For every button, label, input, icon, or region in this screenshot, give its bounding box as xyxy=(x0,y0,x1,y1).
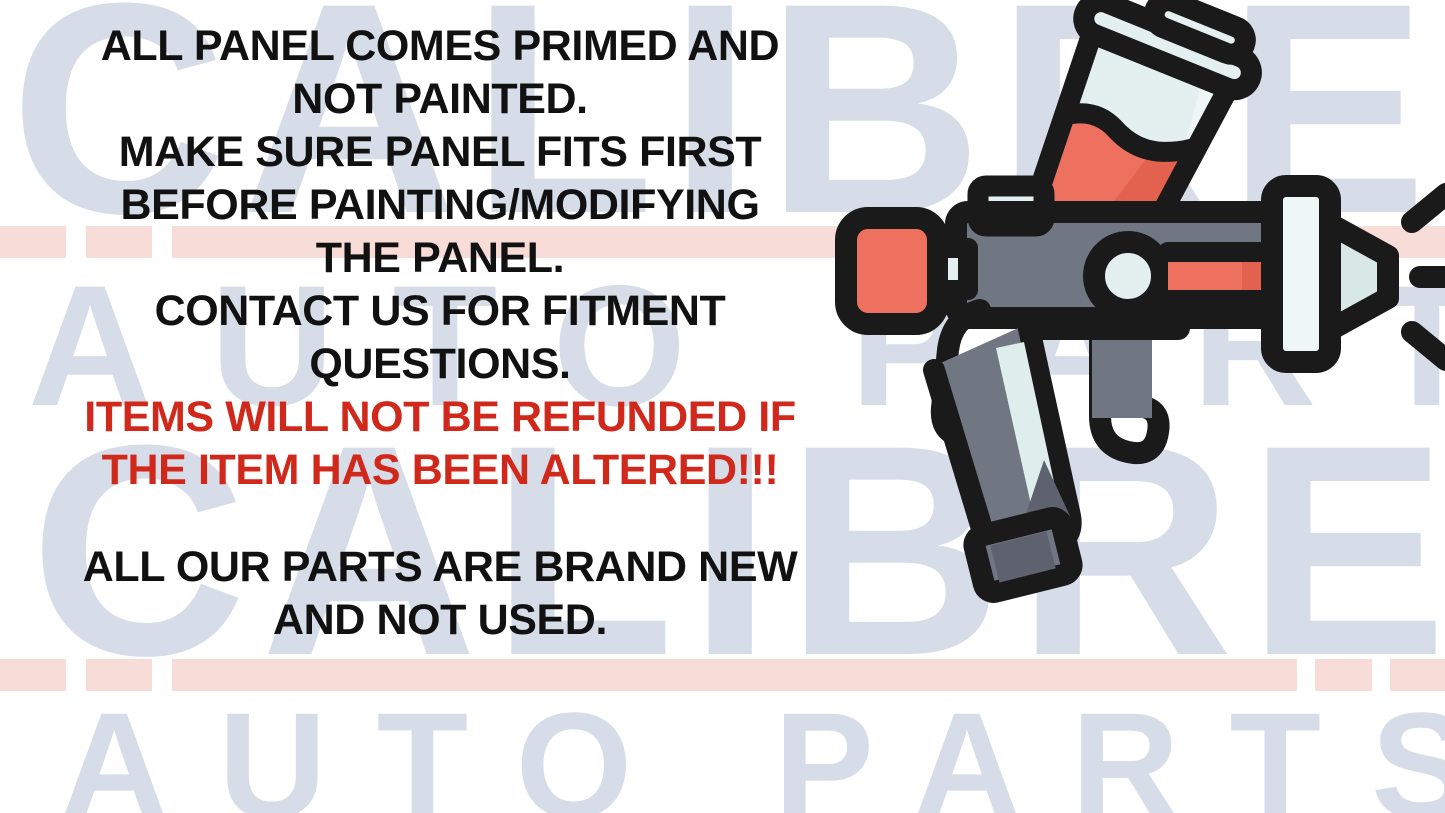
band-notch xyxy=(152,659,172,691)
band-notch xyxy=(1297,659,1315,691)
notice-line: BEFORE PAINTING/MODIFYING xyxy=(0,179,880,232)
watermark-autoparts-bottom: AUTO PARTS xyxy=(60,690,1445,813)
notice-line: THE PANEL. xyxy=(0,232,880,285)
notice-line: MAKE SURE PANEL FITS FIRST xyxy=(0,126,880,179)
band-notch xyxy=(1372,659,1390,691)
accent-band-bottom xyxy=(0,659,1445,691)
notice-line-warning: ITEMS WILL NOT BE REFUNDED IF xyxy=(0,391,880,444)
spray-lines xyxy=(1412,194,1445,360)
notice-gap xyxy=(0,497,880,541)
notice-line: ALL OUR PARTS ARE BRAND NEW xyxy=(0,541,880,594)
paint-spray-gun-illustration xyxy=(830,0,1445,610)
notice-line: AND NOT USED. xyxy=(0,594,880,647)
notice-line: QUESTIONS. xyxy=(0,338,880,391)
notice-line: NOT PAINTED. xyxy=(0,73,880,126)
notice-line-warning: THE ITEM HAS BEEN ALTERED!!! xyxy=(0,444,880,497)
product-notice-banner: CALIBRE AUTO PARTS CALIBRE AUTO PARTS xyxy=(0,0,1445,813)
band-notch xyxy=(66,659,86,691)
notice-line: ALL PANEL COMES PRIMED AND xyxy=(0,20,880,73)
notice-line: CONTACT US FOR FITMENT xyxy=(0,285,880,338)
notice-text-block: ALL PANEL COMES PRIMED AND NOT PAINTED. … xyxy=(0,20,880,647)
